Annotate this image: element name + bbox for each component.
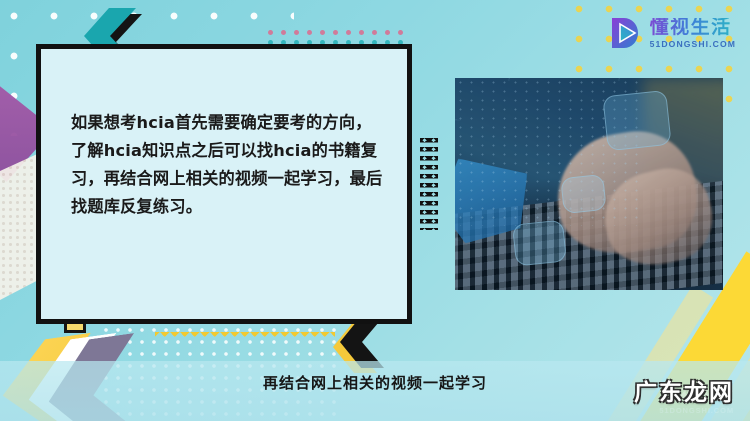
slide-canvas: 如果想考hcia首先需要确定要考的方向，了解hcia知识点之后可以找hcia的书…: [0, 0, 750, 421]
dongshi-play-logo-icon: [609, 16, 643, 50]
card-body-text: 如果想考hcia首先需要确定要考的方向，了解hcia知识点之后可以找hcia的书…: [71, 109, 385, 220]
vertical-zigzag-decor: [420, 138, 438, 230]
brand-name-cn: 懂视生活: [650, 18, 736, 37]
pink-dot-row-decor: [268, 22, 411, 28]
brand-name-en: 51DONGSHI.COM: [650, 40, 736, 49]
teal-dot-row-decor: [268, 32, 411, 38]
brand-logo: 懂视生活 51DONGSHI.COM: [609, 16, 736, 50]
keyboard-photo: [455, 78, 723, 290]
site-watermark: 广东龙网: [634, 373, 734, 407]
content-card: 如果想考hcia首先需要确定要考的方向，了解hcia知识点之后可以找hcia的书…: [36, 44, 412, 324]
ghost-watermark-en: 51DONGSHI.COM: [659, 406, 734, 415]
horizontal-zigzag-decor: [155, 332, 335, 342]
